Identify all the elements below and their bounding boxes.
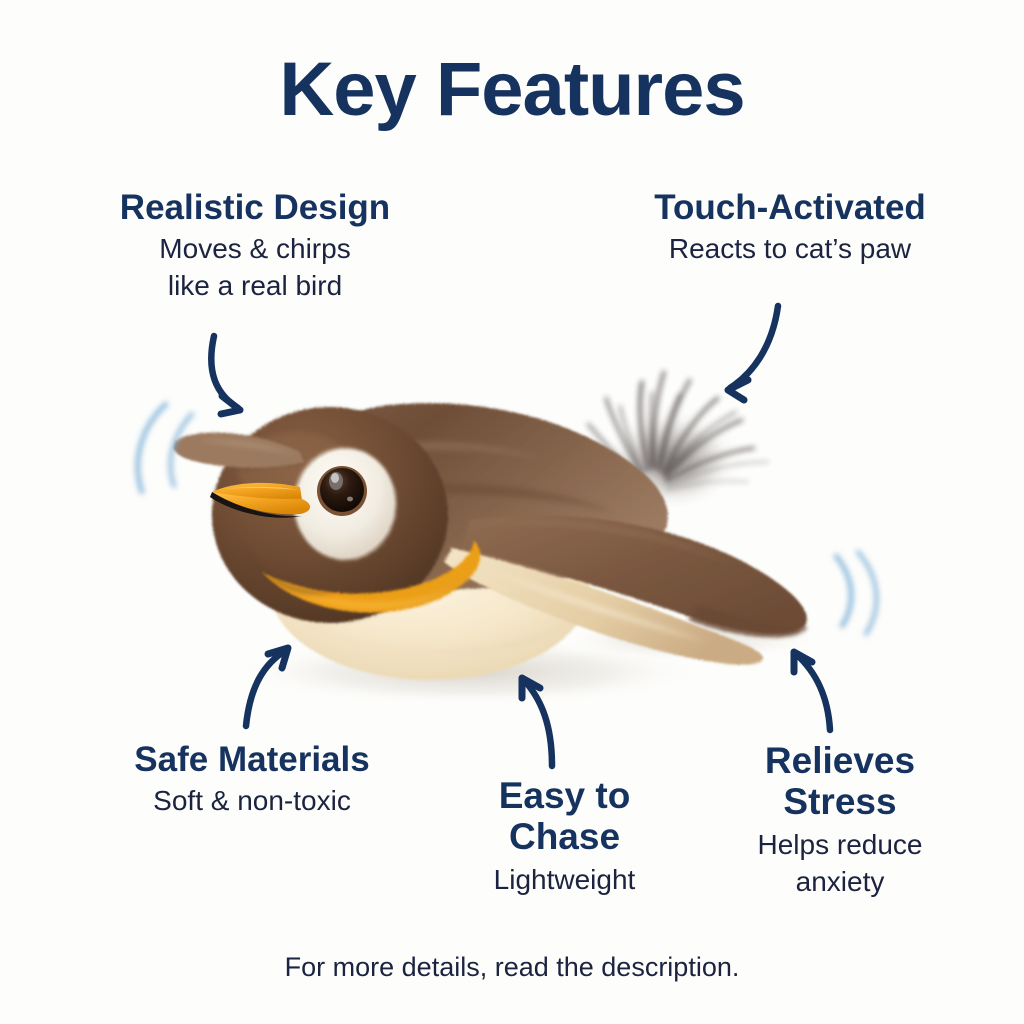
footer-note: For more details, read the description. (0, 952, 1024, 983)
arrow-relieves-stress (794, 652, 830, 730)
feature-title: Touch-Activated (585, 188, 995, 227)
feature-subtitle: Reacts to cat’s paw (585, 231, 995, 268)
arrow-touch-activated (728, 306, 778, 400)
feature-title: Relieves Stress (690, 740, 990, 823)
arrow-realistic-design (211, 336, 240, 414)
feature-title: Safe Materials (42, 740, 462, 779)
feature-subtitle: Helps reduce anxiety (690, 827, 990, 901)
feature-subtitle: Moves & chirps like a real bird (40, 231, 470, 305)
feature-subtitle: Soft & non-toxic (42, 783, 462, 820)
feature-safe-materials: Safe Materials Soft & non-toxic (42, 740, 462, 820)
feature-realistic-design: Realistic Design Moves & chirps like a r… (40, 188, 470, 305)
feature-title: Easy to Chase (437, 775, 692, 858)
page-title: Key Features (0, 50, 1024, 130)
feature-subtitle: Lightweight (437, 862, 692, 899)
bird-eye (294, 448, 396, 560)
infographic-page: Key Features Realistic Design Moves & ch… (0, 0, 1024, 1024)
motion-lines-right (836, 552, 876, 634)
feature-touch-activated: Touch-Activated Reacts to cat’s paw (585, 188, 995, 268)
feature-title: Realistic Design (40, 188, 470, 227)
feature-easy-to-chase: Easy to Chase Lightweight (437, 775, 692, 899)
feature-relieves-stress: Relieves Stress Helps reduce anxiety (690, 740, 990, 901)
